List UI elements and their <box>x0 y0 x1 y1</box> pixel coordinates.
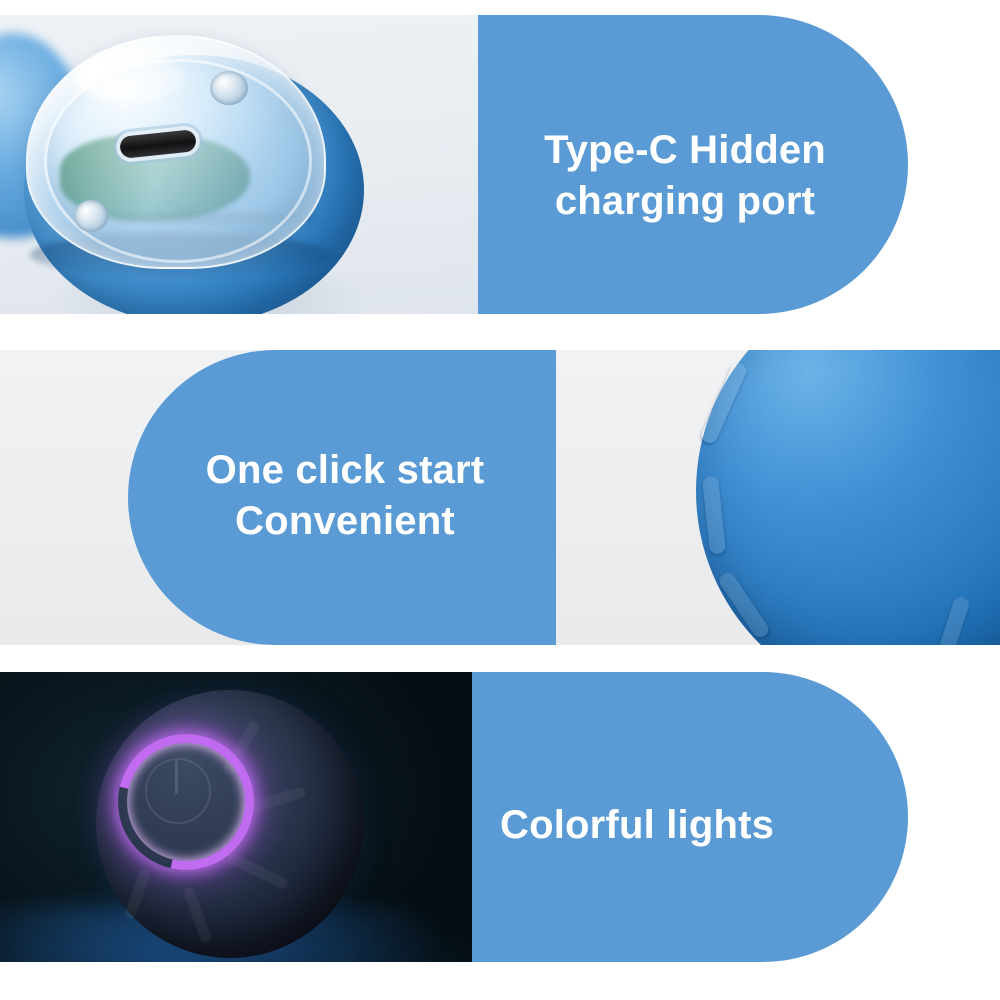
infographic-page: Type-C Hidden charging port One click st… <box>0 0 1000 1000</box>
feature-panel-charging-port: Type-C Hidden charging port <box>0 15 1000 314</box>
feature-panel-colorful-lights: Colorful lights <box>0 672 1000 962</box>
dome-specular-highlight <box>76 51 184 103</box>
headline-colorful-lights: Colorful lights <box>500 800 890 851</box>
headline-charging-port: Type-C Hidden charging port <box>490 125 880 227</box>
product-photo-dark-room <box>0 672 472 962</box>
screw-boss-lower <box>74 200 108 232</box>
feature-panel-one-click-start: One click start Convenient <box>0 350 1000 645</box>
screw-boss-upper <box>210 71 248 105</box>
headline-one-click-start: One click start Convenient <box>150 445 540 547</box>
product-photo-charging-port <box>0 15 478 314</box>
